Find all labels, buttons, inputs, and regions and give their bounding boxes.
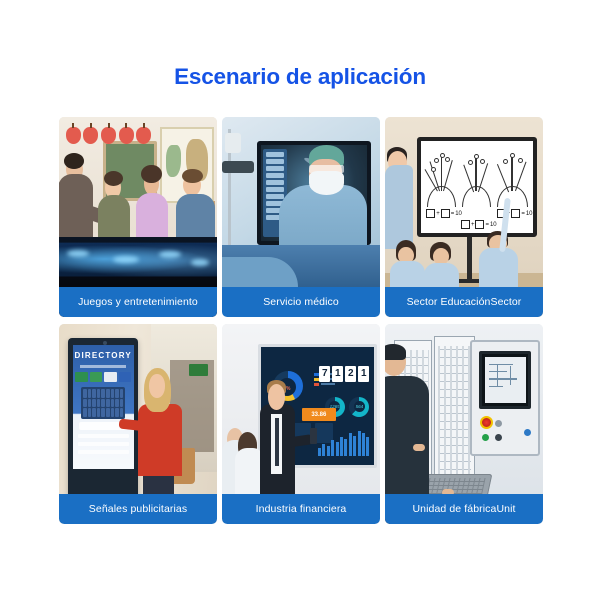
card-caption-games-entertainment: Juegos y entretenimiento	[59, 287, 217, 317]
gauge-value-2: 564	[354, 401, 366, 413]
highlight-metric: 33.86	[302, 408, 336, 421]
emergency-stop-button[interactable]	[480, 416, 493, 429]
green-button[interactable]	[482, 434, 489, 441]
card-caption-factory-unit: Unidad de fábricaUnit	[385, 494, 543, 524]
board-equation-1: + = 10	[426, 209, 462, 218]
blue-button[interactable]	[524, 429, 531, 436]
card-caption-financial-industry: Industria financiera	[222, 494, 380, 524]
gray-button[interactable]	[495, 420, 502, 427]
application-scenario-page: Escenario de aplicación	[0, 0, 600, 600]
scenario-card-games-entertainment[interactable]: Juegos y entretenimiento	[59, 117, 217, 317]
scenario-card-grid: Juegos y entretenimiento	[59, 117, 543, 524]
card-caption-advertising-signage: Señales publicitarias	[59, 494, 217, 524]
scenario-card-education-sector[interactable]: + = 10 + = 10 +	[385, 117, 543, 317]
dashboard-digits: 7 1 2 1	[319, 366, 369, 382]
kiosk-header: DIRECTORY	[73, 351, 134, 360]
scenario-card-advertising-signage[interactable]: DIRECTORY	[59, 324, 217, 524]
scenario-card-factory-unit[interactable]: Unidad de fábricaUnit	[385, 324, 543, 524]
card-caption-medical-service: Servicio médico	[222, 287, 380, 317]
hmi-control-panel	[470, 340, 540, 456]
dark-button[interactable]	[495, 434, 502, 441]
page-title: Escenario de aplicación	[0, 64, 600, 90]
card-caption-education-sector: Sector EducaciónSector	[385, 287, 543, 317]
scenario-card-medical-service[interactable]: Servicio médico	[222, 117, 380, 317]
scenario-card-financial-industry[interactable]: 56% 7 1 2 1	[222, 324, 380, 524]
